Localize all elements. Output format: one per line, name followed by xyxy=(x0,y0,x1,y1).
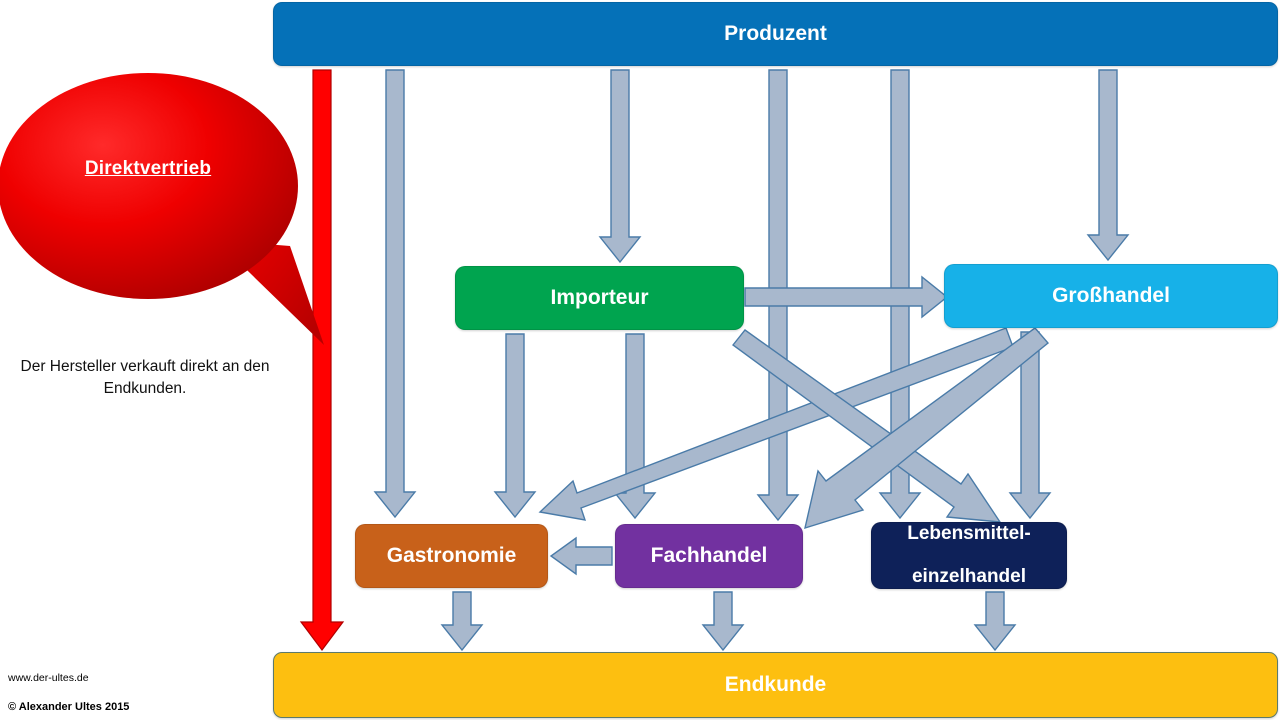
footer-website[interactable]: www.der-ultes.de xyxy=(8,672,89,684)
diagram-canvas: Produzent Importeur Großhandel Gastronom… xyxy=(0,0,1280,720)
footer-copyright: © Alexander Ultes 2015 xyxy=(8,701,129,713)
callout-caption: Der Hersteller verkauft direkt an den En… xyxy=(0,356,290,401)
callout-title: Direktvertrieb xyxy=(0,158,296,180)
callout-bubble xyxy=(0,73,298,299)
